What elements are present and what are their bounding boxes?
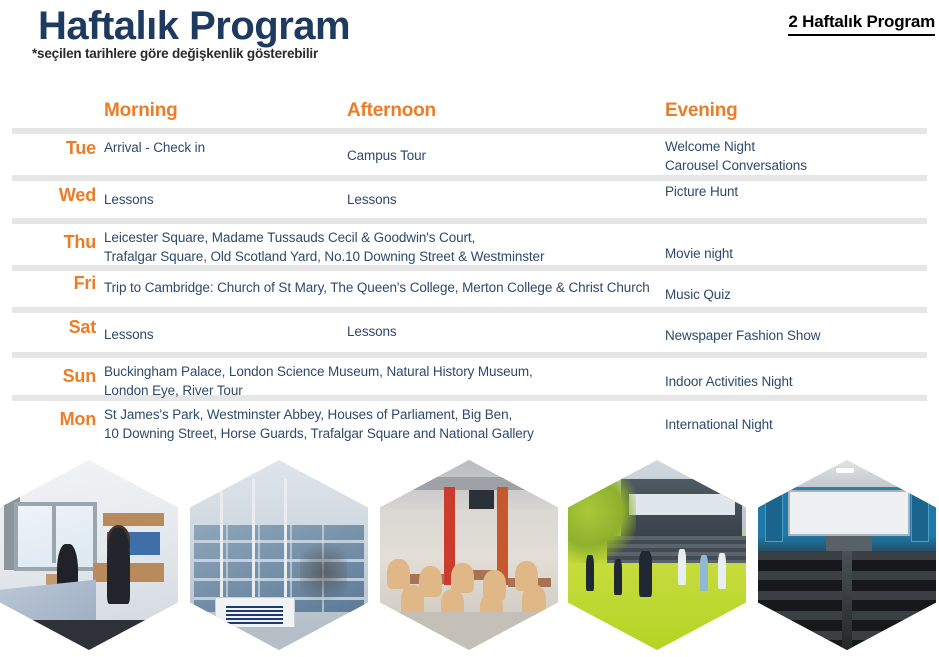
row-cell-evening: International Night [665, 415, 930, 434]
row-day-label: Sun [0, 366, 96, 387]
cafeteria-photo [380, 460, 558, 650]
row-cell-activities: St James's Park, Westminster Abbey, Hous… [104, 405, 664, 443]
program-length-badge[interactable]: 2 Haftalık Program [788, 12, 935, 36]
row-cell-activities: Buckingham Palace, London Science Museum… [104, 362, 664, 400]
row-divider [12, 218, 927, 224]
row-day-label: Mon [0, 409, 96, 430]
row-cell-evening: Welcome Night Carousel Conversations [665, 137, 930, 175]
row-cell-afternoon: Campus Tour [347, 146, 657, 165]
lecture-theatre-photo [758, 460, 936, 650]
row-divider [12, 352, 927, 358]
row-day-label: Wed [0, 185, 96, 206]
campus-photo-strip [0, 460, 939, 657]
row-day-label: Tue [0, 138, 96, 159]
row-divider [12, 307, 927, 313]
row-day-label: Fri [0, 273, 96, 294]
row-divider [12, 175, 927, 181]
row-cell-evening: Indoor Activities Night [665, 372, 930, 391]
university-building-photo [190, 460, 368, 650]
row-cell-evening: Picture Hunt [665, 182, 930, 201]
row-cell-activities: Trip to Cambridge: Church of St Mary, Th… [104, 278, 664, 297]
row-cell-evening: Newspaper Fashion Show [665, 326, 930, 345]
row-cell-morning: Lessons [104, 325, 344, 344]
row-cell-afternoon: Lessons [347, 322, 657, 341]
page-title: Haftalık Program [38, 4, 350, 48]
column-header-morning: Morning [104, 100, 178, 122]
row-divider [12, 128, 927, 134]
page-subtitle: *seçilen tarihlere göre değişkenlik göst… [32, 46, 318, 61]
page-header: Haftalık Program *seçilen tarihlere göre… [0, 0, 939, 100]
row-cell-morning: Arrival - Check in [104, 138, 344, 157]
row-cell-evening: Music Quiz [665, 285, 930, 304]
row-cell-activities: Leicester Square, Madame Tussauds Cecil … [104, 228, 664, 266]
row-cell-evening: Movie night [665, 244, 930, 263]
row-cell-morning: Lessons [104, 190, 344, 209]
row-cell-afternoon: Lessons [347, 190, 657, 209]
row-day-label: Sat [0, 317, 96, 338]
sports-field-photo [568, 460, 746, 650]
weekly-schedule-table: Morning Afternoon Evening Tue Arrival - … [0, 100, 939, 128]
column-header-afternoon: Afternoon [347, 100, 436, 122]
column-header-evening: Evening [665, 100, 738, 122]
schedule-column-headers: Morning Afternoon Evening [0, 100, 939, 128]
dorm-room-photo [0, 460, 178, 650]
row-day-label: Thu [0, 232, 96, 253]
